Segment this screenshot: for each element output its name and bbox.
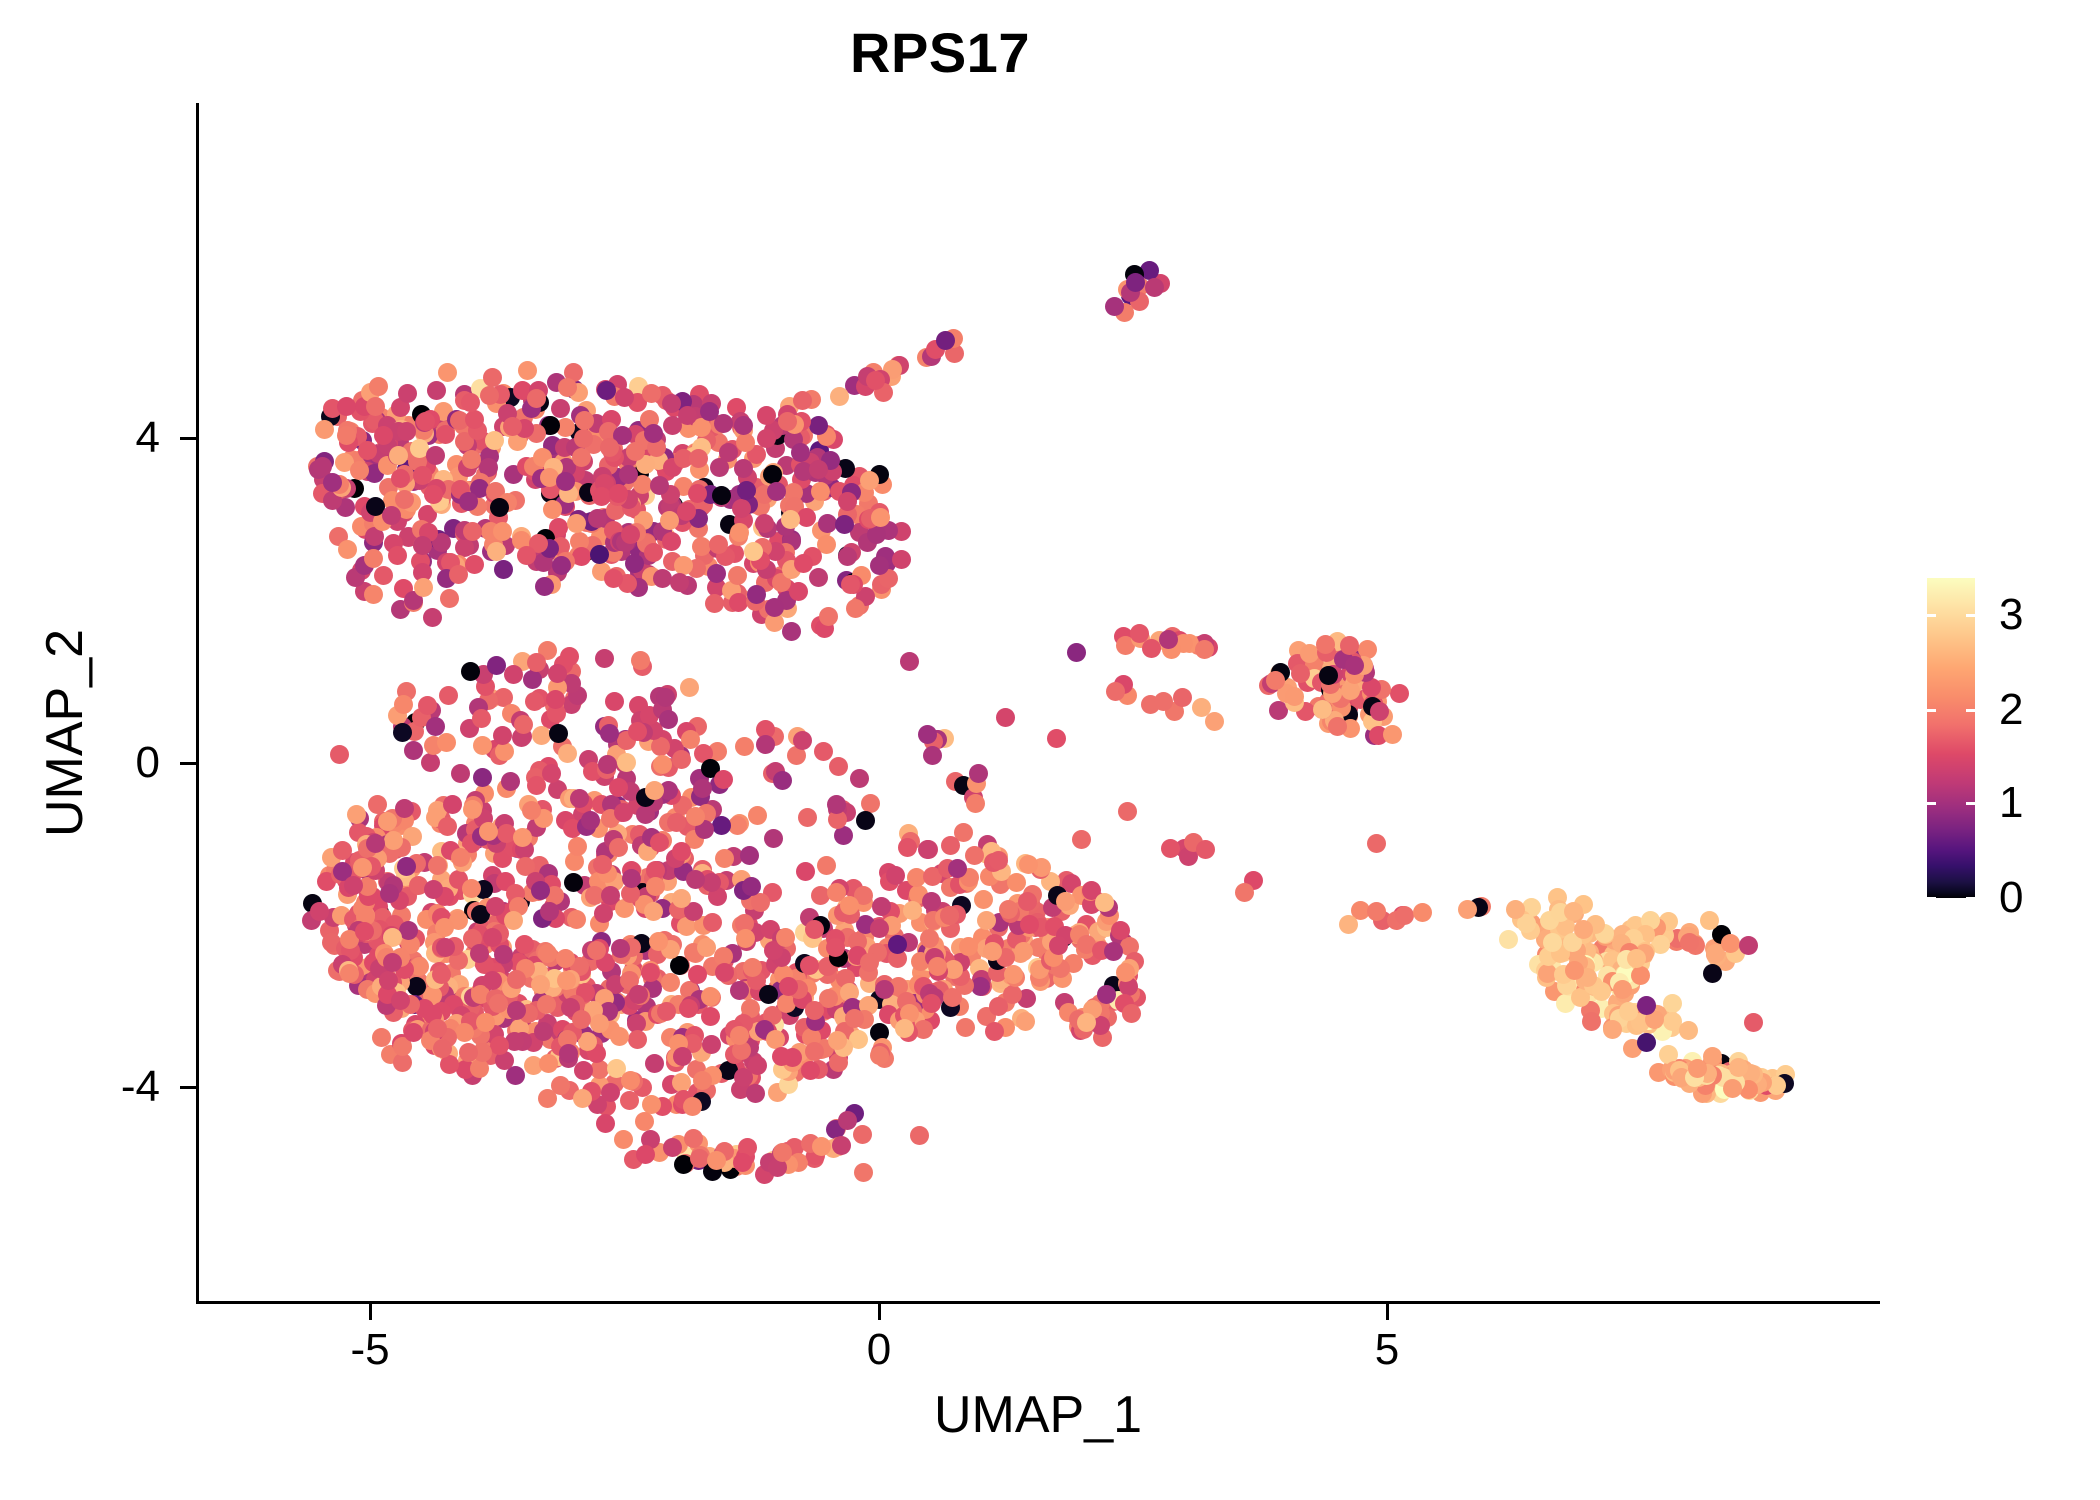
scatter-point (518, 361, 537, 380)
scatter-point (871, 508, 890, 527)
scatter-point (701, 1007, 720, 1026)
scatter-point (683, 1097, 702, 1116)
scatter-point (374, 566, 393, 585)
scatter-point (733, 1153, 752, 1172)
scatter-point (366, 397, 385, 416)
scatter-point (489, 994, 508, 1013)
scatter-point (443, 795, 462, 814)
scatter-point (670, 573, 689, 592)
scatter-point (461, 662, 480, 681)
scatter-point (898, 838, 917, 857)
scatter-point (382, 506, 401, 525)
scatter-point (617, 753, 636, 772)
scatter-point (438, 817, 457, 836)
scatter-point (794, 554, 813, 573)
scatter-point (636, 1145, 655, 1164)
colorbar-tick-mark-2 (1966, 709, 1975, 712)
scatter-point (1291, 664, 1310, 683)
scatter-point (493, 522, 512, 541)
scatter-point (645, 1054, 664, 1073)
scatter-point (483, 368, 502, 387)
scatter-point (597, 381, 616, 400)
scatter-point (644, 902, 663, 921)
y-tick-label-m4: -4 (40, 1062, 160, 1112)
scatter-point (715, 963, 734, 982)
scatter-point (693, 779, 712, 798)
scatter-point (439, 686, 458, 705)
scatter-point (459, 1043, 478, 1062)
scatter-point (398, 384, 417, 403)
scatter-point (1499, 930, 1518, 949)
scatter-point (642, 1095, 661, 1114)
scatter-point (610, 1027, 629, 1046)
scatter-point (525, 692, 544, 711)
feature-plot-figure: RPS17 4 0 -4 -5 0 5 UMAP_2 UMAP_1 0123 (0, 0, 2100, 1500)
scatter-point (651, 737, 670, 756)
scatter-point (438, 363, 457, 382)
scatter-point (818, 514, 837, 533)
scatter-point (812, 1137, 831, 1156)
scatter-point (344, 876, 363, 895)
scatter-point (1007, 873, 1026, 892)
scatter-point (353, 858, 372, 877)
scatter-point (732, 499, 751, 518)
scatter-point (1619, 1002, 1638, 1021)
scatter-point (830, 387, 849, 406)
scatter-point (330, 745, 349, 764)
scatter-point (789, 582, 808, 601)
scatter-point (389, 446, 408, 465)
scatter-point (461, 393, 480, 412)
scatter-point (626, 442, 645, 461)
scatter-point (680, 678, 699, 697)
scatter-point (337, 397, 356, 416)
scatter-point (838, 1111, 857, 1130)
scatter-point (513, 828, 532, 847)
scatter-point (838, 492, 857, 511)
scatter-point (1729, 1058, 1748, 1077)
scatter-point (856, 811, 875, 830)
scatter-point (1574, 920, 1593, 939)
scatter-point (686, 870, 705, 889)
scatter-point (642, 384, 661, 403)
scatter-point (495, 742, 514, 761)
scatter-point (1458, 900, 1477, 919)
scatter-point (404, 1023, 423, 1042)
scatter-point (653, 569, 672, 588)
colorbar-tick-mark-1 (1966, 802, 1975, 805)
scatter-point (364, 585, 383, 604)
x-axis-label: UMAP_1 (338, 1385, 1738, 1445)
scatter-point (656, 688, 675, 707)
scatter-point (416, 412, 435, 431)
scatter-point (559, 1044, 578, 1063)
scatter-point (372, 1028, 391, 1047)
scatter-point (384, 831, 403, 850)
scatter-point (854, 1163, 873, 1182)
scatter-point (501, 772, 520, 791)
scatter-point (1383, 725, 1402, 744)
scatter-point (989, 997, 1008, 1016)
scatter-point (572, 448, 591, 467)
scatter-point (486, 897, 505, 916)
scatter-point (814, 742, 833, 761)
scatter-point (368, 795, 387, 814)
scatter-point (573, 1089, 592, 1108)
scatter-point (702, 1035, 721, 1054)
scatter-point (340, 964, 359, 983)
scatter-point (449, 565, 468, 584)
scatter-point (1316, 635, 1335, 654)
scatter-point (1266, 671, 1285, 690)
scatter-point (619, 465, 638, 484)
scatter-point (595, 649, 614, 668)
y-tick-mark-4 (180, 437, 196, 440)
scatter-point (661, 973, 680, 992)
scatter-point (350, 461, 369, 480)
scatter-point (730, 523, 749, 542)
x-tick-mark-5 (1386, 1304, 1389, 1320)
scatter-point (590, 1014, 609, 1033)
scatter-point (605, 692, 624, 711)
scatter-point (567, 514, 586, 533)
scatter-point (490, 498, 509, 517)
scatter-point (1105, 297, 1124, 316)
scatter-point (479, 822, 498, 841)
scatter-point (620, 1091, 639, 1110)
scatter-point (920, 929, 939, 948)
scatter-point (702, 873, 721, 892)
scatter-point (609, 838, 628, 857)
scatter-plot-panel (198, 103, 1880, 1302)
scatter-point (712, 816, 731, 835)
scatter-point (538, 1089, 557, 1108)
scatter-point (570, 789, 589, 808)
scatter-point (436, 938, 455, 957)
scatter-point (892, 550, 911, 569)
scatter-point (366, 834, 385, 853)
scatter-point (748, 806, 767, 825)
scatter-point (490, 1036, 509, 1055)
scatter-point (1016, 1012, 1035, 1031)
scatter-point (853, 1125, 872, 1144)
colorbar-tick-mark-0 (1966, 897, 1975, 900)
scatter-point (644, 543, 663, 562)
scatter-point (709, 535, 728, 554)
scatter-point (440, 589, 459, 608)
scatter-point (310, 902, 329, 921)
scatter-point (395, 490, 414, 509)
scatter-point (337, 426, 356, 445)
scatter-point (918, 725, 937, 744)
colorbar-tick-label-1: 1 (1999, 778, 2023, 828)
scatter-point (574, 1061, 593, 1080)
scatter-point (421, 753, 440, 772)
scatter-point (523, 670, 542, 689)
scatter-point (542, 764, 561, 783)
scatter-point (540, 902, 559, 921)
scatter-point (693, 1071, 712, 1090)
scatter-point (427, 381, 446, 400)
scatter-point (596, 1114, 615, 1133)
scatter-point (1067, 643, 1086, 662)
scatter-point (1097, 985, 1116, 1004)
y-tick-mark-m4 (180, 1086, 196, 1089)
scatter-point (740, 846, 759, 865)
scatter-point (621, 525, 640, 544)
scatter-point (1104, 942, 1123, 961)
scatter-point (748, 1056, 767, 1075)
scatter-point (872, 897, 891, 916)
scatter-point (1506, 900, 1525, 919)
scatter-point (779, 977, 798, 996)
scatter-point (1106, 682, 1125, 701)
scatter-point (977, 911, 996, 930)
scatter-point (701, 987, 720, 1006)
scatter-point (604, 569, 623, 588)
scatter-point (629, 985, 648, 1004)
scatter-point (621, 1071, 640, 1090)
colorbar-tick-mark-3 (1927, 614, 1936, 617)
x-tick-label-m5: -5 (300, 1325, 440, 1375)
scatter-point (369, 377, 388, 396)
scatter-point (451, 764, 470, 783)
scatter-point (391, 469, 410, 488)
scatter-point (838, 547, 857, 566)
scatter-point (778, 412, 797, 431)
scatter-point (1173, 688, 1192, 707)
scatter-point (507, 970, 526, 989)
scatter-point (614, 803, 633, 822)
scatter-point (809, 460, 828, 479)
scatter-point (829, 757, 848, 776)
scatter-point (1235, 883, 1254, 902)
colorbar-tick-label-2: 2 (1999, 685, 2023, 735)
scatter-point (966, 794, 985, 813)
y-tick-mark-0 (180, 762, 196, 765)
scatter-point (886, 866, 905, 885)
scatter-point (660, 511, 679, 530)
scatter-point (719, 443, 738, 462)
scatter-point (781, 510, 800, 529)
scatter-point (515, 935, 534, 954)
scatter-point (759, 985, 778, 1004)
scatter-point (395, 799, 414, 818)
scatter-point (1145, 278, 1164, 297)
scatter-point (380, 884, 399, 903)
scatter-point (764, 829, 783, 848)
scatter-point (1340, 636, 1359, 655)
scatter-point (996, 708, 1015, 727)
scatter-point (534, 1022, 553, 1041)
scatter-point (462, 450, 481, 469)
scatter-point (850, 769, 869, 788)
scatter-point (801, 1061, 820, 1080)
scatter-point (459, 492, 478, 511)
scatter-point (757, 429, 776, 448)
colorbar-tick-label-0: 0 (1999, 873, 2023, 923)
scatter-point (805, 1001, 824, 1020)
scatter-point (394, 695, 413, 714)
scatter-point (1637, 1033, 1656, 1052)
scatter-point (1049, 936, 1068, 955)
scatter-point (923, 746, 942, 765)
scatter-point (572, 1010, 591, 1029)
scatter-point (796, 862, 815, 881)
scatter-point (594, 904, 613, 923)
scatter-point (948, 859, 967, 878)
scatter-point (323, 473, 342, 492)
scatter-point (832, 1136, 851, 1155)
scatter-point (1018, 892, 1037, 911)
scatter-point (989, 851, 1008, 870)
scatter-point (572, 547, 591, 566)
scatter-point (1095, 893, 1114, 912)
scatter-point (527, 653, 546, 672)
scatter-point (1631, 966, 1650, 985)
scatter-point (705, 594, 724, 613)
colorbar-gradient (1927, 578, 1975, 898)
scatter-point (674, 556, 693, 575)
colorbar-tick-mark-1 (1927, 802, 1936, 805)
scatter-point (729, 593, 748, 612)
scatter-point (517, 546, 536, 565)
scatter-point (556, 949, 575, 968)
scatter-point (487, 542, 506, 561)
scatter-point (700, 402, 719, 421)
scatter-point (736, 929, 755, 948)
scatter-point (1582, 1012, 1601, 1031)
scatter-point (662, 532, 681, 551)
scatter-point (1195, 640, 1214, 659)
y-axis-label: UMAP_2 (35, 433, 95, 1033)
scatter-point (936, 331, 955, 350)
scatter-point (504, 911, 523, 930)
scatter-point (592, 487, 611, 506)
scatter-point (628, 1030, 647, 1049)
scatter-point (677, 502, 696, 521)
scatter-point (900, 652, 919, 671)
scatter-point (483, 928, 502, 947)
scatter-point (667, 813, 686, 832)
scatter-point (922, 994, 941, 1013)
scatter-point (600, 438, 619, 457)
scatter-point (437, 733, 456, 752)
scatter-point (819, 607, 838, 626)
scatter-point (531, 881, 550, 900)
scatter-point (588, 509, 607, 528)
scatter-point (1004, 965, 1023, 984)
scatter-point (940, 906, 959, 925)
scatter-point (1339, 915, 1358, 934)
scatter-point (707, 564, 726, 583)
scatter-point (730, 981, 749, 1000)
scatter-point (1679, 1021, 1698, 1040)
scatter-point (494, 560, 513, 579)
scatter-point (943, 988, 962, 1007)
scatter-point (672, 842, 691, 861)
scatter-point (672, 750, 691, 769)
scatter-point (504, 665, 523, 684)
scatter-point (485, 431, 504, 450)
scatter-point (1014, 942, 1033, 961)
scatter-point (465, 555, 484, 574)
scatter-point (418, 696, 437, 715)
scatter-point (552, 556, 571, 575)
scatter-point (835, 515, 854, 534)
scatter-point (1613, 980, 1632, 999)
scatter-point (558, 378, 577, 397)
scatter-point (728, 566, 747, 585)
colorbar-tick-mark-2 (1927, 709, 1936, 712)
scatter-point (846, 599, 865, 618)
scatter-point (609, 778, 628, 797)
scatter-point (338, 540, 357, 559)
scatter-point (672, 1073, 691, 1092)
scatter-point (1723, 1079, 1742, 1098)
scatter-point (928, 957, 947, 976)
scatter-point (535, 577, 554, 596)
scatter-point (697, 938, 716, 957)
scatter-point (817, 856, 836, 875)
scatter-point (650, 476, 669, 495)
scatter-point (432, 965, 451, 984)
scatter-point (756, 735, 775, 754)
scatter-point (827, 795, 846, 814)
scatter-point (440, 1055, 459, 1074)
scatter-point (681, 730, 700, 749)
colorbar-tick-mark-0 (1927, 897, 1936, 900)
scatter-point (472, 709, 491, 728)
scatter-point (800, 956, 819, 975)
scatter-point (455, 1023, 474, 1042)
scatter-point (428, 1019, 447, 1038)
scatter-point (646, 877, 665, 896)
scatter-point (735, 737, 754, 756)
scatter-point (539, 1054, 558, 1073)
scatter-point (548, 664, 567, 683)
scatter-point (567, 910, 586, 929)
scatter-point (574, 429, 593, 448)
colorbar-legend[interactable]: 0123 (1927, 578, 1975, 898)
scatter-point (527, 389, 546, 408)
scatter-point (860, 471, 879, 490)
scatter-point (765, 598, 784, 617)
scatter-point (1020, 915, 1039, 934)
scatter-point (757, 406, 776, 425)
scatter-point (866, 371, 885, 390)
colorbar-tick-label-3: 3 (1999, 590, 2023, 640)
scatter-point (465, 410, 484, 429)
scatter-point (703, 913, 722, 932)
scatter-point (551, 399, 570, 418)
scatter-point (1564, 902, 1583, 921)
scatter-point (388, 546, 407, 565)
scatter-point (793, 731, 812, 750)
scatter-point (673, 1047, 692, 1066)
scatter-point (1744, 1013, 1763, 1032)
scatter-point (556, 472, 575, 491)
scatter-point (601, 886, 620, 905)
scatter-point (679, 999, 698, 1018)
scatter-point (910, 1126, 929, 1145)
scatter-point (436, 425, 455, 444)
scatter-point (1118, 802, 1137, 821)
scatter-point (746, 1084, 765, 1103)
scatter-point (840, 896, 859, 915)
scatter-point (734, 459, 753, 478)
scatter-point (404, 741, 423, 760)
